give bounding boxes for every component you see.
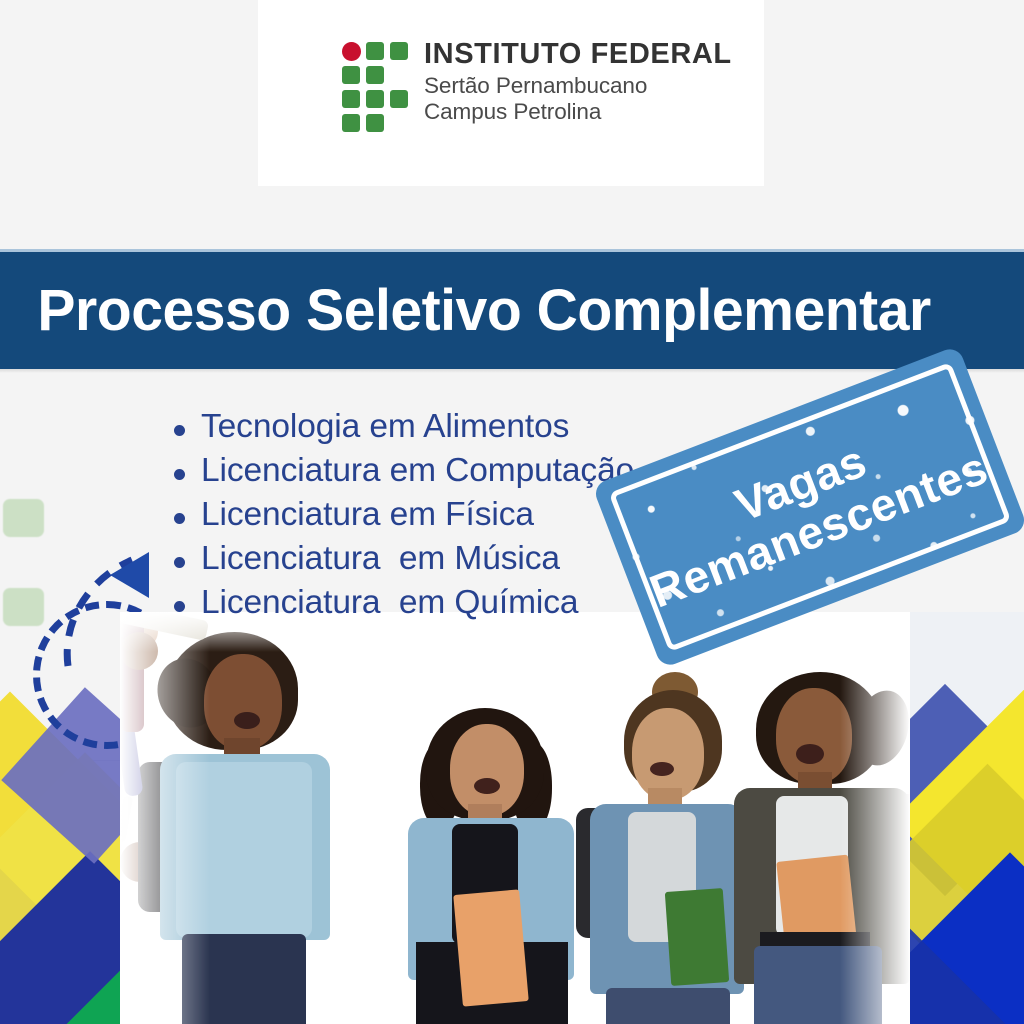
course-list-item: Licenciatura em Computação xyxy=(168,449,634,493)
arrow-head-icon xyxy=(110,552,149,598)
face xyxy=(450,724,524,816)
course-list-item: Licenciatura em Música xyxy=(168,537,634,581)
notebook-green xyxy=(665,888,729,986)
logo-cell xyxy=(366,42,384,60)
page-title: Processo Seletivo Complementar xyxy=(0,277,931,344)
logo-wordmark: INSTITUTO FEDERAL Sertão Pernambucano Ca… xyxy=(424,38,732,125)
instituto-federal-logo-icon xyxy=(342,42,408,134)
banner-drop-shadow xyxy=(0,369,1024,373)
logo-cell xyxy=(366,90,384,108)
logo-card: INSTITUTO FEDERAL Sertão Pernambucano Ca… xyxy=(258,0,764,186)
logo-institution-name: INSTITUTO FEDERAL xyxy=(424,40,732,70)
logo-cell xyxy=(342,114,360,132)
mouth xyxy=(234,712,260,729)
course-list-item: Tecnologia em Alimentos xyxy=(168,405,634,449)
mouth xyxy=(650,762,674,776)
notebook-orange xyxy=(453,889,529,1006)
title-banner: Processo Seletivo Complementar xyxy=(0,252,1024,369)
logo-campus-name: Campus Petrolina xyxy=(424,99,732,125)
poster-canvas: INSTITUTO FEDERAL Sertão Pernambucano Ca… xyxy=(0,0,1024,1024)
course-list-item: Licenciatura em Física xyxy=(168,493,634,537)
logo-cell xyxy=(390,42,408,60)
logo-red-dot xyxy=(342,42,361,61)
students-photo xyxy=(120,612,910,1024)
logo-cell xyxy=(366,114,384,132)
logo-cell xyxy=(366,66,384,84)
logo-lockup: INSTITUTO FEDERAL Sertão Pernambucano Ca… xyxy=(342,38,732,134)
logo-cell xyxy=(342,66,360,84)
jeans xyxy=(606,988,730,1024)
green-square-decoration-1 xyxy=(3,499,44,537)
green-square-decoration-2 xyxy=(3,588,44,626)
logo-cell xyxy=(342,90,360,108)
photo-edge-fade-right xyxy=(840,612,910,1024)
mouth xyxy=(474,778,500,794)
logo-region-name: Sertão Pernambucano xyxy=(424,73,732,99)
face xyxy=(632,708,704,800)
photo-edge-fade-left xyxy=(120,612,210,1024)
face xyxy=(204,654,282,750)
course-list: Tecnologia em Alimentos Licenciatura em … xyxy=(168,405,634,625)
mouth xyxy=(796,744,824,764)
logo-cell xyxy=(390,90,408,108)
course-list-item: Licenciatura em Química xyxy=(168,581,634,625)
